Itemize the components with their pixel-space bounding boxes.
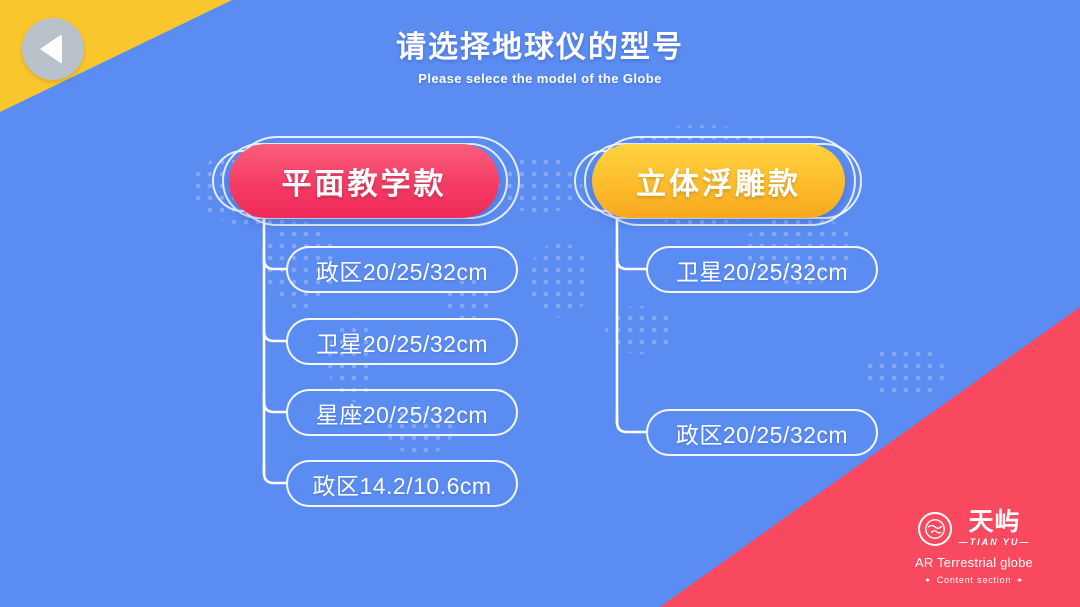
option-label: 卫星20/25/32cm [316, 325, 488, 359]
option-pill-relief-2[interactable]: 政区20/25/32cm [646, 409, 878, 456]
option-label: 政区20/25/32cm [676, 416, 848, 450]
option-label: 政区20/25/32cm [316, 253, 488, 287]
brand-name-cn: 天屿 [959, 510, 1031, 535]
app-screen: 请选择地球仪的型号 Please selece the model of the… [0, 0, 1080, 607]
page-subtitle: Please selece the model of the Globe [0, 71, 1080, 86]
brand-row: 天屿 —TIAN YU— [886, 510, 1062, 547]
option-label: 政区14.2/10.6cm [312, 467, 491, 501]
category-label-relief: 立体浮雕款 [636, 159, 801, 203]
category-button-relief[interactable]: 立体浮雕款 [592, 144, 845, 218]
brand-section-label: ✦Content section✦ [886, 575, 1062, 585]
option-label: 星座20/25/32cm [316, 396, 488, 430]
option-pill-relief-1[interactable]: 卫星20/25/32cm [646, 246, 878, 293]
option-label: 卫星20/25/32cm [676, 253, 848, 287]
brand-text: 天屿 —TIAN YU— [959, 510, 1031, 547]
option-pill-flat-2[interactable]: 卫星20/25/32cm [286, 318, 518, 365]
category-label-flat: 平面教学款 [282, 159, 447, 203]
brand-logo: 天屿 —TIAN YU— AR Terrestrial globe ✦Conte… [886, 510, 1062, 585]
option-pill-flat-4[interactable]: 政区14.2/10.6cm [286, 460, 518, 507]
globe-emblem-icon [918, 512, 952, 546]
section-label-text: Content section [937, 575, 1012, 585]
option-pill-flat-3[interactable]: 星座20/25/32cm [286, 389, 518, 436]
page-title: 请选择地球仪的型号 [0, 22, 1080, 66]
option-pill-flat-1[interactable]: 政区20/25/32cm [286, 246, 518, 293]
header: 请选择地球仪的型号 Please selece the model of the… [0, 22, 1080, 86]
star-icon-left: ✦ [924, 576, 932, 585]
category-button-flat[interactable]: 平面教学款 [229, 144, 499, 218]
brand-tagline: AR Terrestrial globe [886, 555, 1062, 570]
brand-pinyin: —TIAN YU— [959, 537, 1031, 547]
star-icon-right: ✦ [1016, 576, 1024, 585]
